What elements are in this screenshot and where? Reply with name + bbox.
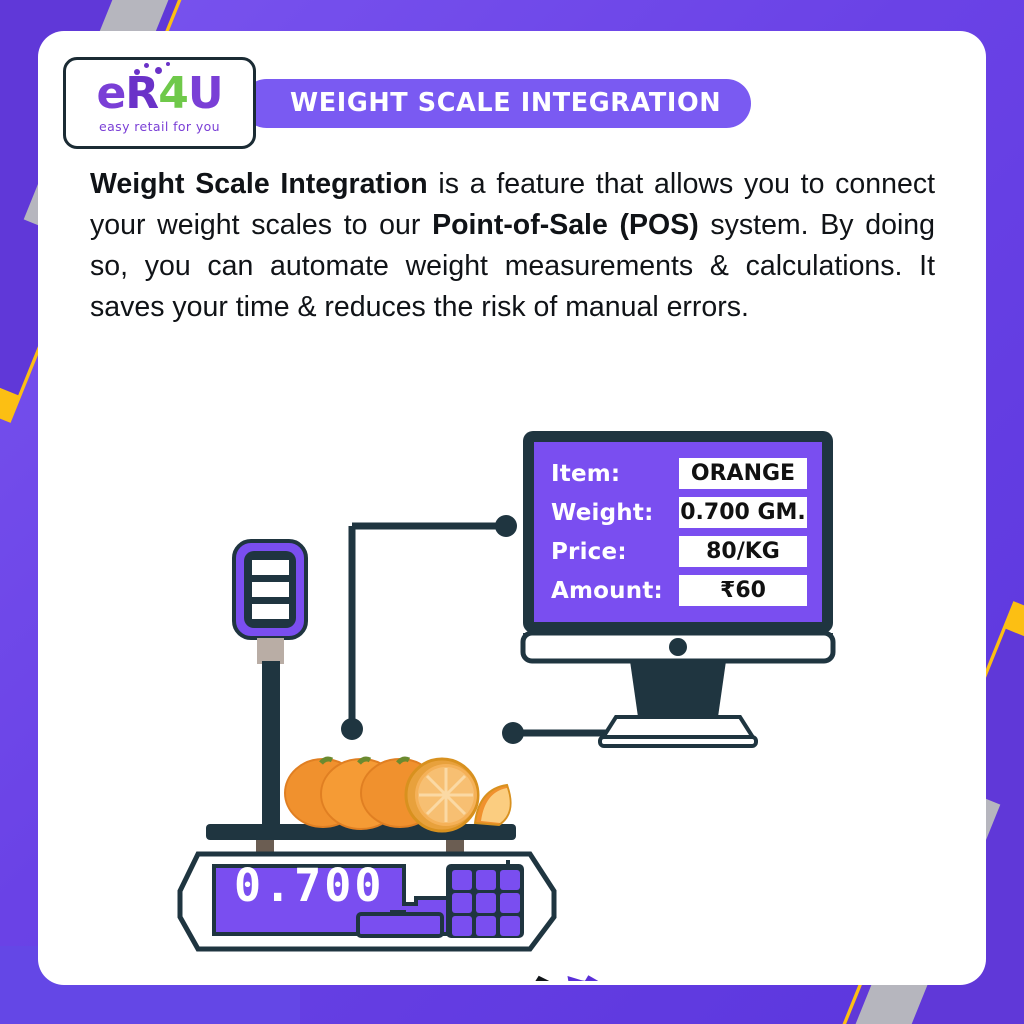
connector-dot-scale-panel <box>502 722 524 744</box>
connector-dot-scale-platform <box>341 718 363 740</box>
pos-value-item: ORANGE <box>679 458 807 489</box>
scene-graphics <box>38 361 986 981</box>
scale-lcd-secondary <box>358 914 442 936</box>
page-title-pill: WEIGHT SCALE INTEGRATION <box>242 79 751 128</box>
logo-letter-u: U <box>188 68 223 119</box>
brand-logo: eR4U easy retail for you <box>63 57 256 149</box>
logo-dots-icon <box>134 63 174 77</box>
pos-value-weight: 0.700 GM. <box>679 497 807 528</box>
description-paragraph: Weight Scale Integration is a feature th… <box>90 164 935 328</box>
scale-pole <box>262 661 280 831</box>
brand-logo-wordmark: eR4U <box>96 72 222 116</box>
pos-label-price: Price: <box>551 539 679 565</box>
monitor-neck <box>630 661 726 717</box>
logo-letter-e: e <box>96 68 125 119</box>
connector-dot-monitor-top <box>495 515 517 537</box>
scale-display-value: 0.700 <box>234 859 384 912</box>
description-lead-bold: Weight Scale Integration <box>90 168 428 200</box>
illustration-scene: Item: ORANGE Weight: 0.700 GM. Price: 80… <box>38 361 986 981</box>
pos-monitor-screen: Item: ORANGE Weight: 0.700 GM. Price: 80… <box>533 443 821 621</box>
scale-keypad-keys <box>452 870 520 936</box>
pos-row-price: Price: 80/KG <box>551 535 821 569</box>
pos-label-amount: Amount: <box>551 578 679 604</box>
pos-label-item: Item: <box>551 461 679 487</box>
gear-large-icon <box>489 980 580 981</box>
gears-group <box>489 980 620 981</box>
pos-value-price: 80/KG <box>679 536 807 567</box>
scale-pole-collar <box>257 638 284 664</box>
pos-value-amount: ₹60 <box>679 575 807 606</box>
monitor-base <box>600 737 756 746</box>
poster-canvas: eR4U easy retail for you WEIGHT SCALE IN… <box>0 0 1024 1024</box>
pos-row-item: Item: ORANGE <box>551 457 821 491</box>
brand-tagline: easy retail for you <box>99 119 220 134</box>
description-bold-2: Point-of-Sale (POS) <box>432 209 699 241</box>
pos-label-weight: Weight: <box>551 500 679 526</box>
gear-small-purple-icon <box>556 980 611 981</box>
monitor-camera-dot <box>669 638 687 656</box>
content-card: eR4U easy retail for you WEIGHT SCALE IN… <box>38 31 986 985</box>
header: eR4U easy retail for you WEIGHT SCALE IN… <box>63 57 751 149</box>
oranges-group <box>285 759 511 831</box>
pos-row-weight: Weight: 0.700 GM. <box>551 496 821 530</box>
pos-row-amount: Amount: ₹60 <box>551 574 821 608</box>
page-title: WEIGHT SCALE INTEGRATION <box>290 88 721 118</box>
